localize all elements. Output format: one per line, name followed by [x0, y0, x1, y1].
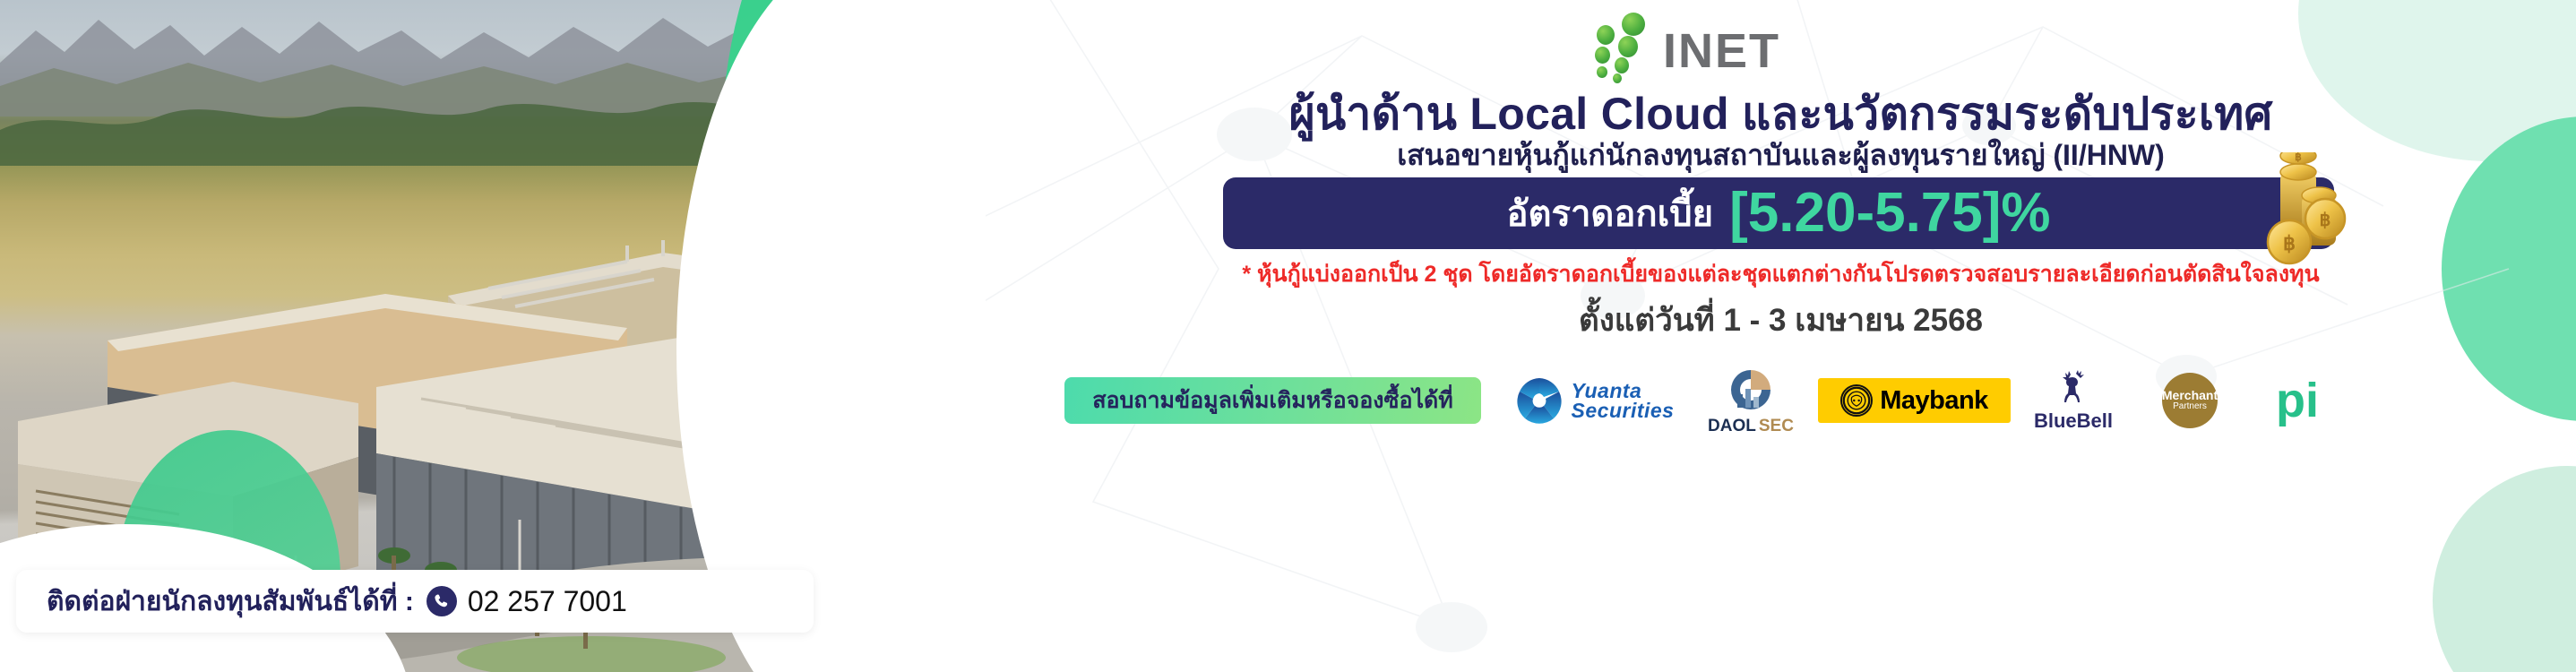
gold-coins-icon: ฿ ฿ ฿ — [2243, 152, 2350, 271]
deer-icon — [2053, 369, 2094, 409]
yuanta-wordmark: Yuanta Securities — [1572, 381, 1675, 420]
svg-text:฿: ฿ — [2320, 211, 2331, 230]
promotional-banner: INET ผู้นำด้าน Local Cloud และนวัตกรรมระ… — [0, 0, 2576, 672]
maybank-wordmark: Maybank — [1880, 386, 1988, 416]
bluebell-wordmark: BlueBell — [2034, 409, 2113, 433]
maybank-tiger-icon — [1840, 384, 1873, 417]
offer-period-text: ตั้งแต่วันที่ 1 - 3 เมษายน 2568 — [986, 296, 2576, 345]
svg-text:฿: ฿ — [2295, 152, 2302, 163]
partner-logo-pi[interactable]: pi — [2244, 379, 2351, 422]
partner-logo-daol[interactable]: DAOLSEC — [1684, 365, 1818, 436]
inet-wordmark: INET — [1663, 23, 1780, 79]
partner-logo-maybank[interactable]: Maybank — [1818, 378, 2011, 423]
daol-pie-icon — [1726, 365, 1776, 415]
phone-icon — [426, 586, 457, 616]
partner-logo-yuanta[interactable]: Yuanta Securities — [1504, 375, 1684, 426]
svg-text:฿: ฿ — [2283, 232, 2296, 254]
yuanta-star-icon — [1514, 375, 1564, 426]
investor-relations-contact: ติดต่อฝ่ายนักลงทุนสัมพันธ์ได้ที่ : 02 25… — [16, 570, 814, 633]
interest-rate-value: [5.20-5.75]% — [1729, 185, 2050, 241]
offer-panel: INET ผู้นำด้าน Local Cloud และนวัตกรรมระ… — [986, 0, 2576, 672]
interest-rate-bar: อัตราดอกเบี้ย [5.20-5.75]% — [1223, 177, 2334, 249]
phone-number[interactable]: 02 257 7001 — [468, 585, 627, 618]
disclaimer-text: * หุ้นกู้แบ่งออกเป็น 2 ชุด โดยอัตราดอกเบ… — [986, 256, 2576, 292]
partner-logo-merchant-partners[interactable]: Merchant Partners — [2136, 373, 2244, 428]
partner-logo-bluebell[interactable]: BlueBell — [2011, 369, 2136, 433]
merchant-circle-icon: Merchant Partners — [2162, 373, 2218, 428]
inet-dots-icon — [1588, 11, 1665, 81]
partner-logos: Yuanta Securities DAOLSEC — [1504, 365, 2351, 436]
contact-label: ติดต่อฝ่ายนักลงทุนสัมพันธ์ได้ที่ : — [47, 581, 414, 623]
inquire-button[interactable]: สอบถามข้อมูลเพิ่มเติมหรือจองซื้อได้ที่ — [1064, 377, 1481, 424]
interest-rate-label: อัตราดอกเบี้ย — [1506, 185, 1713, 242]
daol-wordmark: DAOLSEC — [1708, 417, 1794, 436]
inet-logo: INET — [1588, 11, 1857, 81]
cta-and-partners-row: สอบถามข้อมูลเพิ่มเติมหรือจองซื้อได้ที่ — [1064, 365, 2516, 436]
